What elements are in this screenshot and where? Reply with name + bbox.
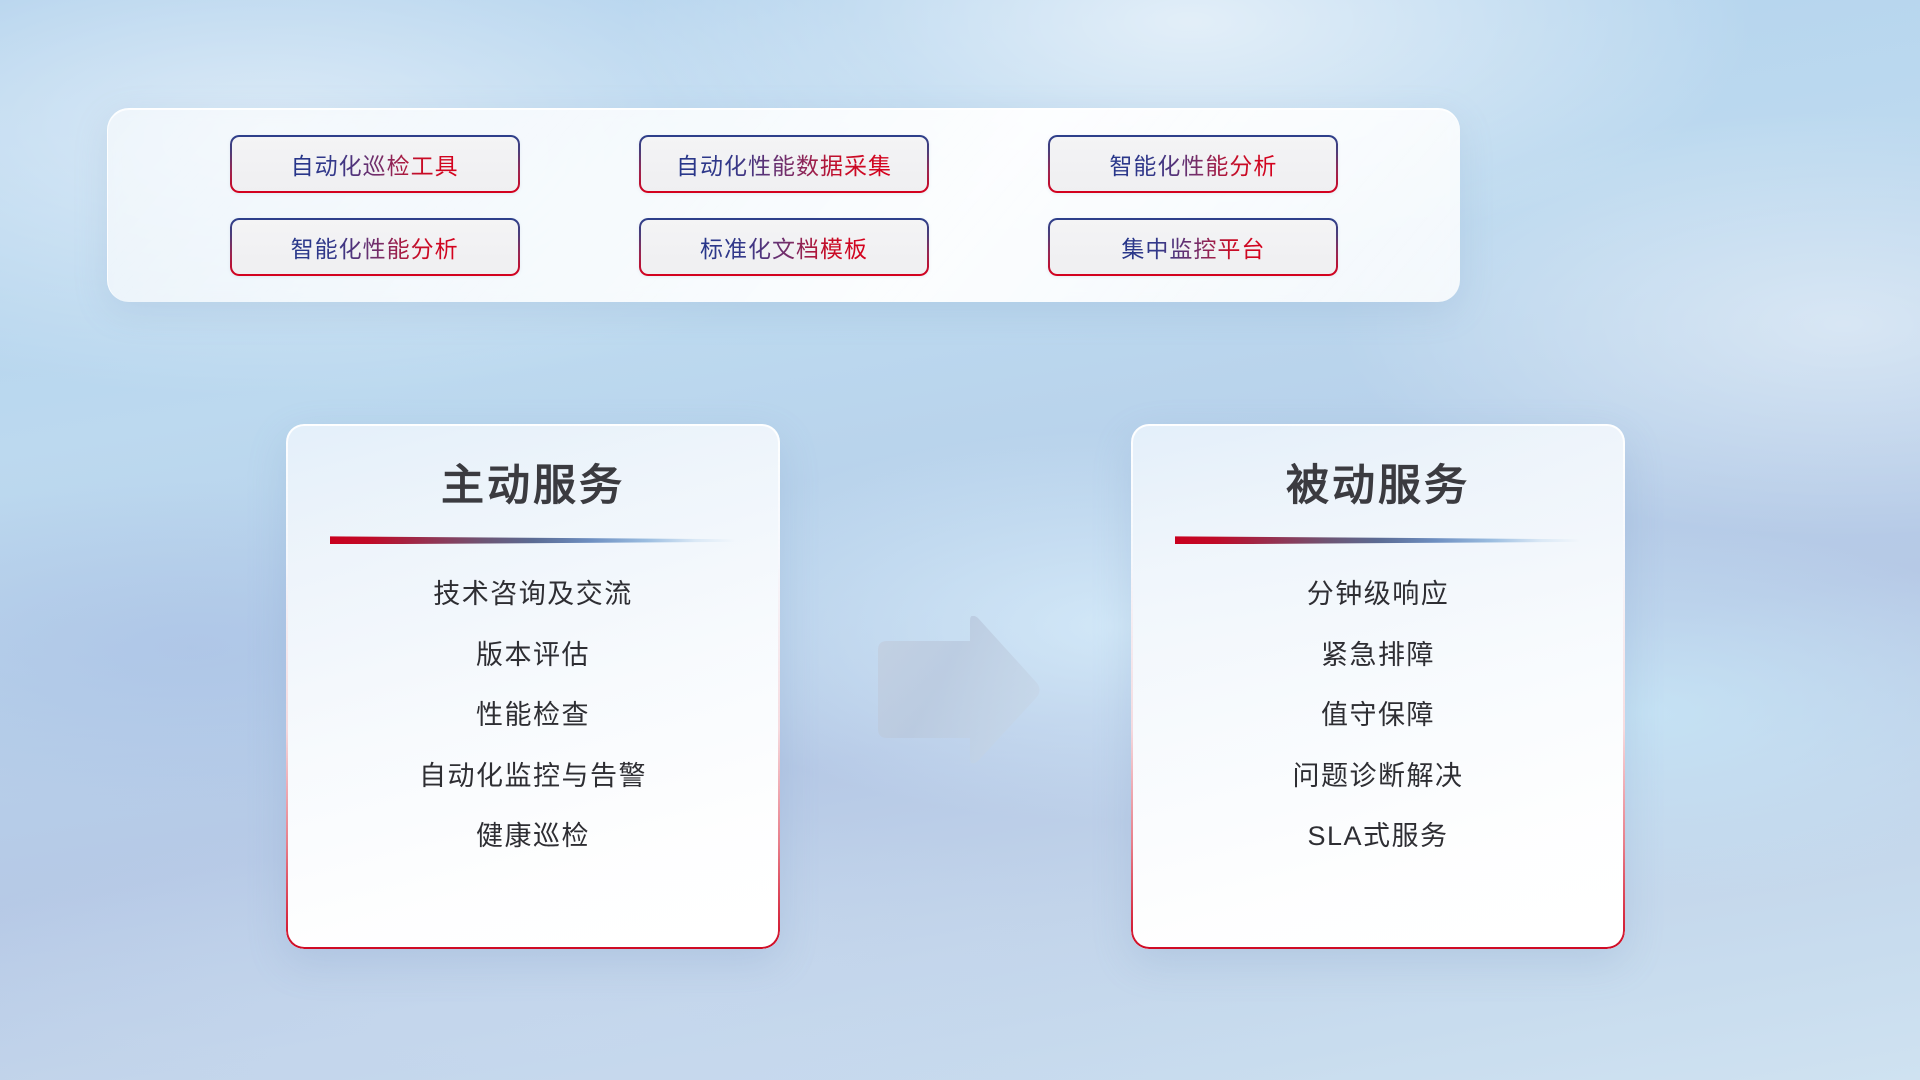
service-card-body: 被动服务 分钟级响应 紧急排障 值守保障 问题诊断解决 SLA式服务: [1131, 424, 1625, 949]
service-card-body: 主动服务 技术咨询及交流 版本评估 性能检查 自动化监控与告警 健康巡检: [286, 424, 780, 949]
service-list-item: 问题诊断解决: [1293, 760, 1464, 792]
arrow-right-icon: [872, 616, 1042, 766]
title-divider: [330, 535, 736, 544]
service-card-title: 被动服务: [1286, 462, 1470, 511]
service-list-item: 值守保障: [1321, 699, 1435, 731]
capability-pill-label: 智能化性能分析: [291, 230, 459, 264]
capabilities-panel: 自动化巡检工具 自动化性能数据采集 智能化性能分析 智能化性能分析 标准化文档模…: [107, 108, 1460, 302]
capability-pill[interactable]: 标准化文档模板: [639, 218, 929, 276]
service-list-item: 技术咨询及交流: [433, 578, 633, 610]
capability-pill-label: 智能化性能分析: [1109, 147, 1277, 181]
slide-canvas: 自动化巡检工具 自动化性能数据采集 智能化性能分析 智能化性能分析 标准化文档模…: [0, 0, 1920, 1080]
service-list-item: 健康巡检: [476, 820, 590, 852]
capability-pill[interactable]: 自动化性能数据采集: [639, 135, 929, 193]
capability-pill-label: 标准化文档模板: [700, 230, 868, 264]
service-list-item: 自动化监控与告警: [419, 760, 647, 792]
service-card-title: 主动服务: [441, 462, 625, 511]
capability-pill[interactable]: 智能化性能分析: [230, 218, 520, 276]
service-list-item: 紧急排障: [1321, 639, 1435, 671]
title-divider-gradient: [330, 535, 736, 544]
capability-pill-label: 自动化性能数据采集: [676, 147, 892, 181]
service-list-item: 版本评估: [476, 639, 590, 671]
capability-pill-label: 自动化巡检工具: [291, 147, 459, 181]
title-divider: [1175, 535, 1581, 544]
capability-pill[interactable]: 自动化巡检工具: [230, 135, 520, 193]
service-card-active[interactable]: 主动服务 技术咨询及交流 版本评估 性能检查 自动化监控与告警 健康巡检: [286, 424, 780, 949]
title-divider-gradient: [1175, 535, 1581, 544]
service-item-list: 分钟级响应 紧急排障 值守保障 问题诊断解决 SLA式服务: [1175, 578, 1581, 919]
capability-pill[interactable]: 智能化性能分析: [1048, 135, 1338, 193]
capability-pill[interactable]: 集中监控平台: [1048, 218, 1338, 276]
service-card-passive[interactable]: 被动服务 分钟级响应 紧急排障 值守保障 问题诊断解决 SLA式服务: [1131, 424, 1625, 949]
service-item-list: 技术咨询及交流 版本评估 性能检查 自动化监控与告警 健康巡检: [330, 578, 736, 919]
service-list-item: SLA式服务: [1307, 820, 1448, 852]
capability-pill-label: 集中监控平台: [1121, 230, 1265, 264]
service-list-item: 性能检查: [476, 699, 590, 731]
service-list-item: 分钟级响应: [1307, 578, 1450, 610]
